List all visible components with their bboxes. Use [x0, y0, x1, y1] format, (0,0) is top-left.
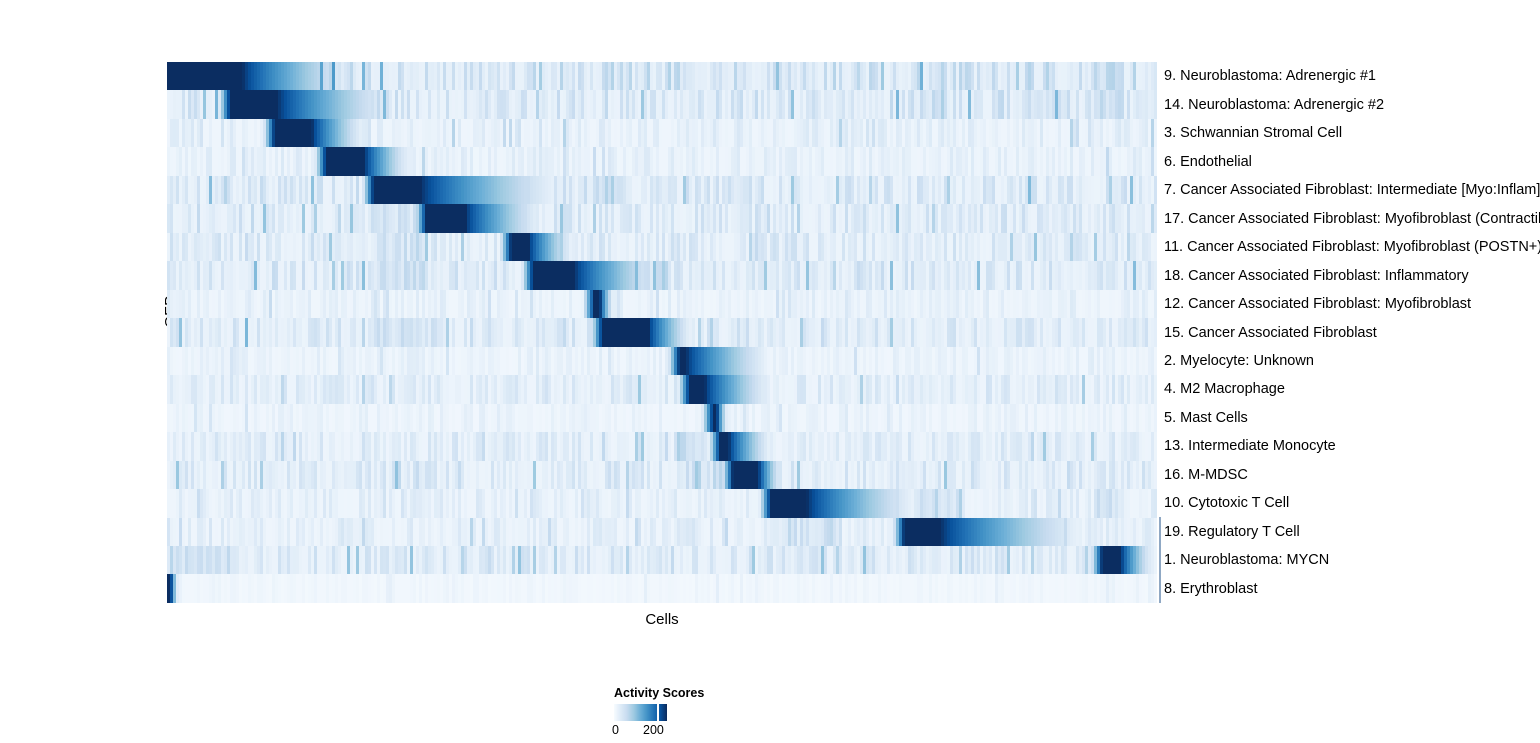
- row-label: 19. Regulatory T Cell: [1164, 525, 1300, 540]
- colorbar-tick-mark: [657, 704, 659, 721]
- heatmap-row: [167, 233, 1157, 261]
- heatmap-row: [167, 90, 1157, 118]
- heatmap-row-cells: [167, 176, 1157, 204]
- heatmap-figure: GEPs 9. Neuroblastoma: Adrenergic #114. …: [0, 0, 1540, 743]
- row-label: 18. Cancer Associated Fibroblast: Inflam…: [1164, 269, 1469, 284]
- heatmap-row: [167, 518, 1157, 546]
- colorbar-gradient: [614, 704, 667, 721]
- row-label: 17. Cancer Associated Fibroblast: Myofib…: [1164, 212, 1540, 227]
- heatmap-row-cells: [167, 432, 1157, 460]
- row-label: 11. Cancer Associated Fibroblast: Myofib…: [1164, 240, 1540, 255]
- heatmap-row-cells: [167, 404, 1157, 432]
- heatmap-row: [167, 375, 1157, 403]
- row-label: 7. Cancer Associated Fibroblast: Interme…: [1164, 183, 1540, 198]
- x-axis-label: Cells: [167, 611, 1157, 628]
- heatmap-row: [167, 147, 1157, 175]
- colorbar-tick-label-min: 0: [612, 723, 619, 737]
- heatmap-row-cells: [167, 518, 1157, 546]
- heatmap-row-cells: [167, 147, 1157, 175]
- row-label: 6. Endothelial: [1164, 155, 1252, 170]
- row-label: 1. Neuroblastoma: MYCN: [1164, 553, 1329, 568]
- row-label: 5. Mast Cells: [1164, 411, 1248, 426]
- heatmap-row-cells: [167, 62, 1157, 90]
- heatmap-row: [167, 204, 1157, 232]
- heatmap-row: [167, 546, 1157, 574]
- axis-spine: [1159, 517, 1161, 603]
- heatmap-row-cells: [167, 119, 1157, 147]
- row-label: 2. Myelocyte: Unknown: [1164, 354, 1314, 369]
- heatmap-row: [167, 261, 1157, 289]
- row-label: 13. Intermediate Monocyte: [1164, 439, 1336, 454]
- heatmap-row-cells: [167, 233, 1157, 261]
- heatmap-row: [167, 62, 1157, 90]
- heatmap-row: [167, 574, 1157, 602]
- heatmap-row-cells: [167, 347, 1157, 375]
- heatmap-row-cells: [167, 204, 1157, 232]
- heatmap-row: [167, 347, 1157, 375]
- row-label: 12. Cancer Associated Fibroblast: Myofib…: [1164, 297, 1471, 312]
- heatmap-row-cells: [167, 574, 1157, 602]
- row-label: 9. Neuroblastoma: Adrenergic #1: [1164, 69, 1376, 84]
- heatmap-row-cells: [167, 375, 1157, 403]
- row-label: 3. Schwannian Stromal Cell: [1164, 126, 1342, 141]
- heatmap-row-cells: [167, 489, 1157, 517]
- heatmap-row-cells: [167, 290, 1157, 318]
- colorbar-title: Activity Scores: [614, 686, 704, 700]
- heatmap-row-cells: [167, 318, 1157, 346]
- row-label: 4. M2 Macrophage: [1164, 382, 1285, 397]
- row-label: 15. Cancer Associated Fibroblast: [1164, 326, 1377, 341]
- row-label: 10. Cytotoxic T Cell: [1164, 496, 1289, 511]
- heatmap-row: [167, 176, 1157, 204]
- heatmap-row: [167, 290, 1157, 318]
- row-label: 16. M-MDSC: [1164, 468, 1248, 483]
- heatmap-row: [167, 489, 1157, 517]
- heatmap-row-cells: [167, 90, 1157, 118]
- row-label: 14. Neuroblastoma: Adrenergic #2: [1164, 98, 1384, 113]
- heatmap-row: [167, 461, 1157, 489]
- heatmap-row-cells: [167, 261, 1157, 289]
- heatmap-row: [167, 119, 1157, 147]
- heatmap-row: [167, 432, 1157, 460]
- heatmap-row: [167, 404, 1157, 432]
- row-label: 8. Erythroblast: [1164, 582, 1258, 597]
- heatmap-plot-area[interactable]: [167, 62, 1157, 603]
- heatmap-row-cells: [167, 461, 1157, 489]
- heatmap-row: [167, 318, 1157, 346]
- colorbar-tick-label-max: 200: [643, 723, 664, 737]
- row-label-list: 9. Neuroblastoma: Adrenergic #114. Neuro…: [1164, 62, 1540, 603]
- heatmap-row-cells: [167, 546, 1157, 574]
